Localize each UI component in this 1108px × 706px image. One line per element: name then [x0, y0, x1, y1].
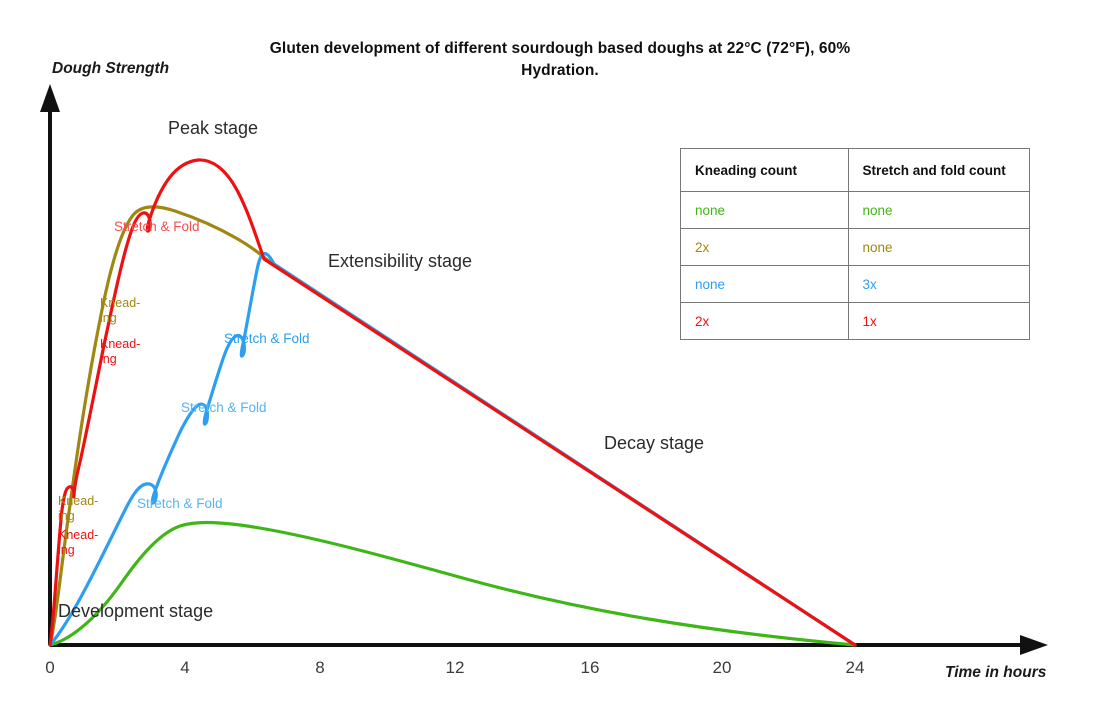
- stage-label-extensibility: Extensibility stage: [328, 251, 472, 272]
- x-tick-4: 4: [163, 658, 207, 678]
- legend-cell-kneading: 2x: [681, 303, 849, 340]
- legend-table: Kneading count Stretch and fold count no…: [680, 148, 1030, 340]
- stage-label-peak: Peak stage: [168, 118, 258, 139]
- legend-cell-stretch-fold: 3x: [848, 266, 1029, 303]
- annotation-red-kneading-lower: Knead- ing: [58, 528, 98, 557]
- x-axis-title: Time in hours: [945, 664, 1046, 682]
- series-line-green: [50, 523, 855, 646]
- legend-row-green: none none: [681, 192, 1030, 229]
- x-tick-12: 12: [433, 658, 477, 678]
- stage-label-decay: Decay stage: [604, 433, 704, 454]
- annotation-red-stretch-fold-upper: Stretch & Fold: [114, 219, 200, 234]
- x-tick-0: 0: [28, 658, 72, 678]
- annotation-blue-stretch-fold-2: Stretch & Fold: [181, 400, 267, 415]
- legend-cell-stretch-fold: none: [848, 192, 1029, 229]
- chart-canvas: Gluten development of different sourdoug…: [0, 0, 1108, 706]
- x-tick-8: 8: [298, 658, 342, 678]
- y-axis-arrow: [40, 84, 60, 112]
- x-axis-arrow: [1020, 635, 1048, 655]
- annotation-olive-kneading-lower: Knead- ing: [58, 494, 98, 523]
- legend-header-kneading: Kneading count: [681, 149, 849, 192]
- annotation-olive-kneading-upper: Knead- ing: [100, 296, 140, 325]
- stage-label-development: Development stage: [58, 601, 213, 622]
- y-axis-title: Dough Strength: [52, 60, 169, 78]
- legend-cell-kneading: none: [681, 192, 849, 229]
- legend-header-stretch-fold: Stretch and fold count: [848, 149, 1029, 192]
- legend-row-blue: none 3x: [681, 266, 1030, 303]
- x-tick-16: 16: [568, 658, 612, 678]
- legend-header-row: Kneading count Stretch and fold count: [681, 149, 1030, 192]
- legend-cell-stretch-fold: 1x: [848, 303, 1029, 340]
- legend-row-olive: 2x none: [681, 229, 1030, 266]
- legend-row-red: 2x 1x: [681, 303, 1030, 340]
- annotation-blue-stretch-fold-3: Stretch & Fold: [224, 331, 310, 346]
- legend-cell-stretch-fold: none: [848, 229, 1029, 266]
- legend-cell-kneading: 2x: [681, 229, 849, 266]
- legend-cell-kneading: none: [681, 266, 849, 303]
- annotation-blue-stretch-fold-1: Stretch & Fold: [137, 496, 223, 511]
- annotation-red-kneading-upper: Knead- ing: [100, 337, 140, 366]
- x-tick-20: 20: [700, 658, 744, 678]
- x-tick-24: 24: [833, 658, 877, 678]
